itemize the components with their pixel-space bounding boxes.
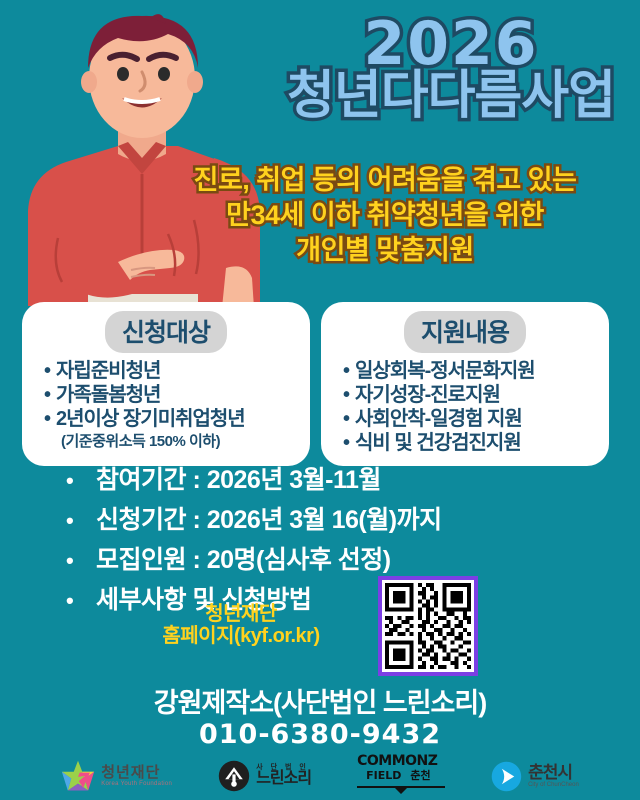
card-item-list: 일상회복-정서문화지원 자기성장-진로지원 사회안착-일경험 지원 식비 및 건…	[327, 359, 603, 455]
list-item: 2년이상 장기미취업청년	[44, 407, 304, 431]
qr-code[interactable]	[378, 576, 478, 676]
detail-text: 참여기간 : 2026년 3월-11월	[96, 468, 381, 493]
card-support-contents: 지원내용 일상회복-정서문화지원 자기성장-진로지원 사회안착-일경험 지원 식…	[321, 302, 609, 466]
footer-logos: 청년재단 Korea Youth Foundation 사 단 법 인 느린소리…	[0, 752, 640, 800]
logo-text: 춘천시 City of ChunCheon	[528, 764, 579, 788]
subtitle-line-3: 개인별 맞춤지원	[140, 233, 630, 268]
contact-organization: 강원제작소(사단법인 느린소리)	[0, 688, 640, 719]
bullet-icon: •	[66, 510, 96, 532]
mountain-circle-icon	[218, 760, 250, 792]
detail-text: 신청기간 : 2026년 3월 16(월)까지	[96, 508, 442, 533]
subtitle-line-2: 만34세 이하 취약청년을 위한	[140, 198, 630, 233]
contact-block: 강원제작소(사단법인 느린소리) 010-6380-9432	[0, 688, 640, 750]
underline-marker-icon	[357, 785, 445, 794]
play-circle-icon	[491, 761, 522, 792]
star-icon	[61, 759, 95, 793]
list-item: 가족돌봄청년	[44, 383, 304, 407]
bullet-icon: •	[66, 550, 96, 572]
logo-main-text: 청년재단	[101, 765, 172, 781]
logo-text: COMMONZ FIELD춘천	[357, 754, 445, 798]
bullet-icon: •	[66, 470, 96, 492]
logo-sub-text: Korea Youth Foundation	[101, 781, 172, 787]
detail-row-application-deadline: • 신청기간 : 2026년 3월 16(월)까지	[66, 508, 606, 533]
list-item: 자기성장-진로지원	[343, 383, 603, 407]
card-application-target: 신청대상 자립준비청년 가족돌봄청년 2년이상 장기미취업청년 (기준중위소득 …	[22, 302, 310, 466]
logo-neurinsori: 사 단 법 인 느린소리	[218, 760, 311, 792]
logo-sub-text: City of ChunCheon	[528, 782, 579, 788]
logo-line-2-text: FIELD	[366, 769, 401, 782]
card-note: (기준중위소득 150% 이하)	[28, 430, 304, 451]
list-item: 식비 및 건강검진지원	[343, 431, 603, 455]
title-program: 청년다다름사업	[262, 70, 640, 122]
card-item-list: 자립준비청년 가족돌봄청년 2년이상 장기미취업청년	[28, 359, 304, 431]
logo-main-text: 느린소리	[256, 771, 311, 788]
bullet-icon: •	[66, 590, 96, 612]
homepage-note: 청년재단 홈페이지(kyf.or.kr)	[96, 603, 386, 648]
logo-tag: 춘천	[410, 769, 430, 782]
logo-line-2: FIELD춘천	[357, 768, 445, 782]
logo-main-text: 춘천시	[528, 764, 579, 782]
logo-chuncheon-city: 춘천시 City of ChunCheon	[491, 761, 579, 792]
info-cards: 신청대상 자립준비청년 가족돌봄청년 2년이상 장기미취업청년 (기준중위소득 …	[22, 302, 618, 466]
poster-subtitle: 진로, 취업 등의 어려움을 겪고 있는 만34세 이하 취약청년을 위한 개인…	[140, 163, 630, 268]
list-item: 사회안착-일경험 지원	[343, 407, 603, 431]
subtitle-line-1: 진로, 취업 등의 어려움을 겪고 있는	[140, 163, 630, 198]
logo-korea-youth-foundation: 청년재단 Korea Youth Foundation	[61, 759, 172, 793]
qr-code-image	[385, 583, 471, 669]
homepage-line-2: 홈페이지(kyf.or.kr)	[96, 625, 386, 647]
poster-title: 2026 청년다다름사업	[262, 14, 640, 122]
detail-row-headcount: • 모집인원 : 20명(심사후 선정)	[66, 548, 606, 573]
homepage-line-1: 청년재단	[96, 603, 386, 625]
logo-text: 사 단 법 인 느린소리	[256, 764, 311, 788]
logo-text: 청년재단 Korea Youth Foundation	[101, 765, 172, 787]
list-item: 자립준비청년	[44, 359, 304, 383]
card-heading: 지원내용	[404, 311, 526, 353]
logo-commonz-field: COMMONZ FIELD춘천	[357, 754, 445, 798]
detail-text: 모집인원 : 20명(심사후 선정)	[96, 548, 391, 573]
card-heading: 신청대상	[105, 311, 227, 353]
detail-row-period: • 참여기간 : 2026년 3월-11월	[66, 468, 606, 493]
contact-phone: 010-6380-9432	[0, 719, 640, 750]
logo-line-1: COMMONZ	[357, 754, 445, 768]
list-item: 일상회복-정서문화지원	[343, 359, 603, 383]
